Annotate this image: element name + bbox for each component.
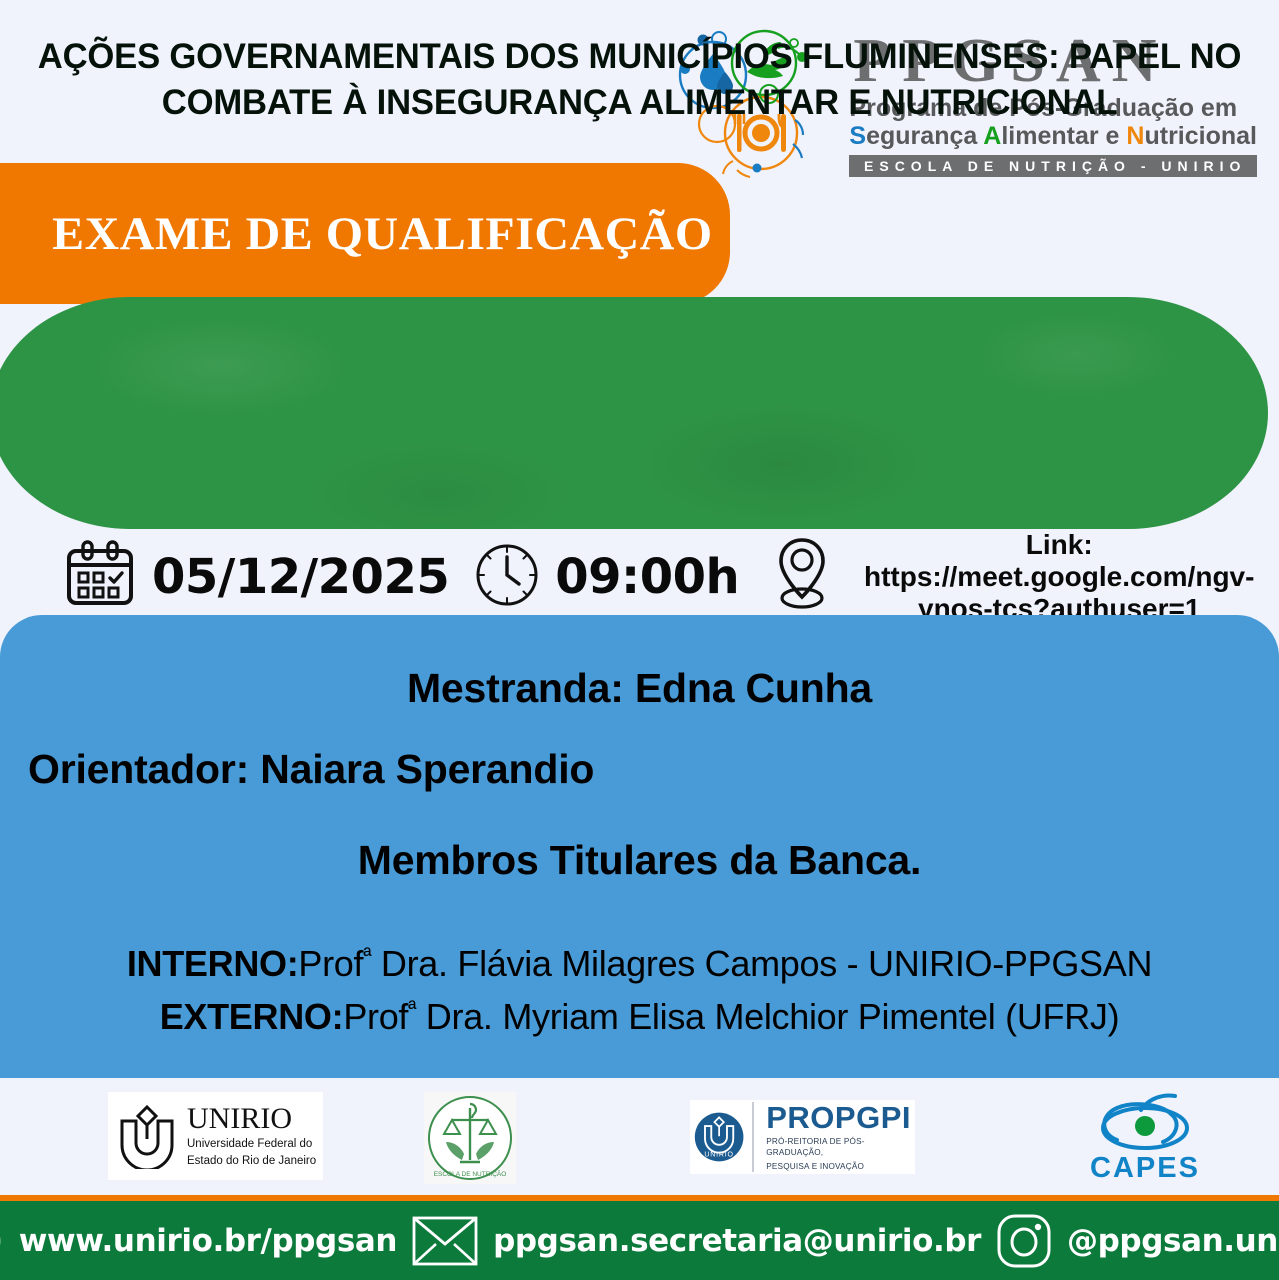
envelope-icon <box>411 1214 479 1268</box>
examiner-internal-name: Dra. Flávia Milagres Campos - UNIRIO-PPG… <box>371 943 1152 984</box>
ppgsan-school-bar: ESCOLA DE NUTRIÇÃO - UNIRIO <box>849 155 1257 177</box>
unirio-logo-text: UNIRIO Universidade Federal do Estado do… <box>187 1104 316 1168</box>
examiner-internal-label: INTERNO: <box>127 943 299 984</box>
unirio-mark-icon <box>114 1103 180 1169</box>
unirio-subtitle-line2: Estado do Rio de Janeiro <box>187 1154 316 1168</box>
capes-logo: CAPES <box>1065 1088 1225 1188</box>
capes-mark-icon <box>1085 1092 1205 1154</box>
calendar-icon <box>62 539 138 616</box>
propgpi-text: PROPGPI PRÓ-REITORIA DE PÓS-GRADUAÇÃO, P… <box>752 1102 911 1172</box>
examiner-internal-prefix: Prof <box>298 943 363 984</box>
thesis-title-banner <box>0 297 1268 529</box>
event-date: 05/12/2025 <box>152 549 449 605</box>
banca-heading: Membros Titulares da Banca. <box>0 837 1279 884</box>
clock-icon <box>473 541 541 614</box>
examiner-external-ordinal: ª <box>408 996 416 1021</box>
date-item: 05/12/2025 <box>0 539 449 616</box>
propgpi-word: PROPGPI <box>766 1102 911 1133</box>
escola-nutricao-seal-icon: ESCOLA DE NUTRIÇÃO <box>426 1094 514 1182</box>
mestranda-line: Mestranda: Edna Cunha <box>0 665 1279 712</box>
orientador-line: Orientador: Naiara Sperandio <box>28 746 594 793</box>
meeting-link[interactable]: Link: https://meet.google.com/ngv-ynos-t… <box>849 529 1269 625</box>
poster-root: PPGSAN Programa de Pós-Graduação em Segu… <box>0 0 1279 1280</box>
globe-icon <box>0 1211 5 1271</box>
propgpi-subtitle-line1: PRÓ-REITORIA DE PÓS-GRADUAÇÃO, <box>766 1136 911 1158</box>
location-pin-icon <box>769 535 835 620</box>
examiner-external-row: EXTERNO:Profª Dra. Myriam Elisa Melchior… <box>0 996 1279 1038</box>
examiner-external-name: Dra. Myriam Elisa Melchior Pimentel (UFR… <box>416 996 1119 1037</box>
svg-text:UNIRIO: UNIRIO <box>704 1152 733 1159</box>
unirio-subtitle-line1: Universidade Federal do <box>187 1137 316 1151</box>
email-text[interactable]: ppgsan.secretaria@unirio.br <box>493 1223 981 1259</box>
website-text[interactable]: www.unirio.br/ppgsan <box>19 1223 397 1259</box>
examiner-external-prefix: Prof <box>343 996 408 1037</box>
propgpi-unirio-badge-icon: UNIRIO <box>694 1105 744 1169</box>
sponsor-logos-row: UNIRIO Universidade Federal do Estado do… <box>0 1078 1279 1195</box>
examiner-internal-ordinal: ª <box>363 943 371 968</box>
contact-footer: www.unirio.br/ppgsan ppgsan.secretaria@u… <box>0 1195 1279 1280</box>
instagram-icon <box>995 1212 1053 1270</box>
unirio-name: UNIRIO <box>187 1104 316 1134</box>
svg-text:ESCOLA DE NUTRIÇÃO: ESCOLA DE NUTRIÇÃO <box>434 1169 507 1178</box>
event-time: 09:00h <box>555 549 739 605</box>
instagram-text[interactable]: @ppgsan.unirio <box>1067 1223 1279 1259</box>
link-item[interactable]: Link: https://meet.google.com/ngv-ynos-t… <box>739 529 1269 625</box>
participants-panel: Mestranda: Edna Cunha Orientador: Naiara… <box>0 615 1279 1078</box>
examiner-external-label: EXTERNO: <box>160 996 344 1037</box>
event-info-strip: 05/12/2025 09:00h Link: https://meet <box>0 531 1279 623</box>
exam-type-label: EXAME DE QUALIFICAÇÃO <box>0 207 713 261</box>
thesis-title: AÇÕES GOVERNAMENTAIS DOS MUNICÍPIOS FLUM… <box>6 34 1272 126</box>
escola-nutricao-logo: ESCOLA DE NUTRIÇÃO <box>424 1092 516 1184</box>
time-item: 09:00h <box>449 541 739 614</box>
propgpi-logo: UNIRIO PROPGPI PRÓ-REITORIA DE PÓS-GRADU… <box>690 1100 915 1174</box>
propgpi-subtitle-line2: PESQUISA E INOVAÇÃO <box>766 1161 911 1172</box>
capes-word: CAPES <box>1090 1152 1200 1185</box>
unirio-logo: UNIRIO Universidade Federal do Estado do… <box>108 1092 323 1180</box>
examiner-internal-row: INTERNO:Profª Dra. Flávia Milagres Campo… <box>0 943 1279 985</box>
exam-type-banner: EXAME DE QUALIFICAÇÃO <box>0 163 730 304</box>
